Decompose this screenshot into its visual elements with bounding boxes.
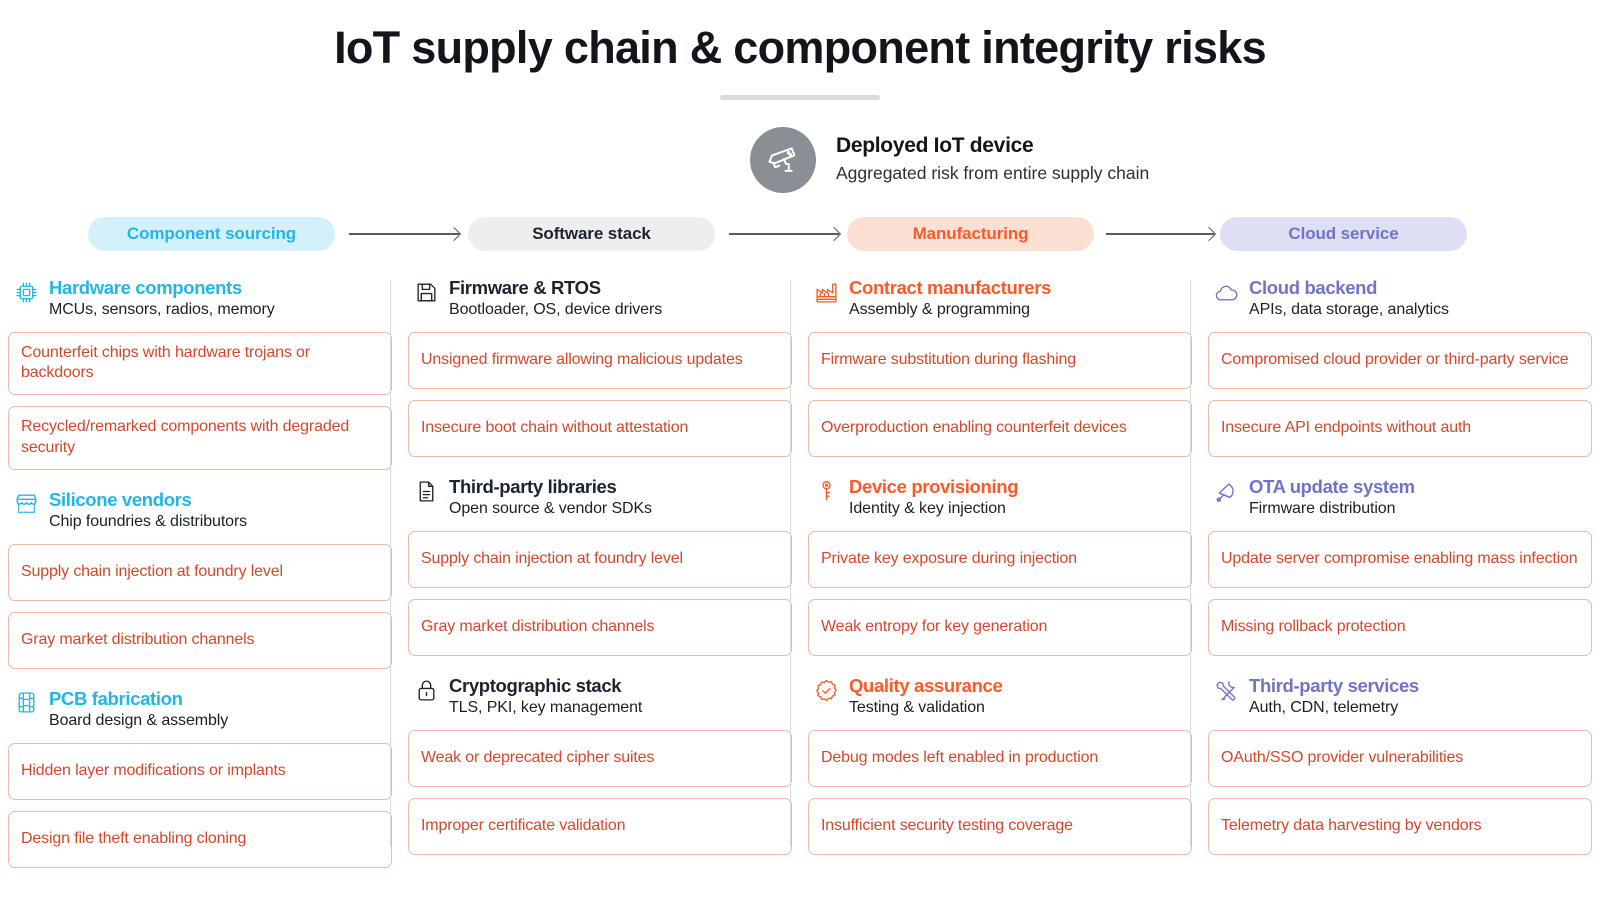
risk-group-title: Hardware components — [49, 277, 275, 298]
risk-item[interactable]: Insecure API endpoints without auth — [1208, 400, 1592, 457]
risk-item[interactable]: Supply chain injection at foundry level — [408, 531, 792, 588]
stage-pill-component-sourcing[interactable]: Component sourcing — [88, 217, 335, 251]
tools-icon — [1212, 675, 1240, 705]
risk-item[interactable]: Recycled/remarked components with degrad… — [8, 406, 392, 469]
risk-group-header: Firmware & RTOSBootloader, OS, device dr… — [408, 276, 792, 321]
risk-group-subtitle: APIs, data storage, analytics — [1249, 300, 1449, 321]
deployed-device-header: Deployed IoT device Aggregated risk from… — [750, 127, 1149, 193]
risk-group-header: Device provisioningIdentity & key inject… — [808, 475, 1192, 520]
risk-item[interactable]: Missing rollback protection — [1208, 599, 1592, 656]
lock-icon — [412, 675, 440, 705]
pcb-chip-icon — [12, 688, 40, 718]
risk-group-subtitle: Identity & key injection — [849, 499, 1018, 520]
risk-group-subtitle: Chip foundries & distributors — [49, 512, 247, 533]
security-camera-icon — [764, 141, 802, 179]
risk-group: Quality assuranceTesting & validationDeb… — [808, 674, 1192, 855]
risk-item[interactable]: Firmware substitution during flashing — [808, 332, 1192, 389]
device-badge — [750, 127, 816, 193]
floppy-disk-icon — [412, 277, 440, 307]
risk-group-title: Contract manufacturers — [849, 277, 1051, 298]
risk-group-title: Quality assurance — [849, 675, 1002, 696]
risk-group-header: Third-party librariesOpen source & vendo… — [408, 475, 792, 520]
risk-item[interactable]: OAuth/SSO provider vulnerabilities — [1208, 730, 1592, 787]
risk-group: Contract manufacturersAssembly & program… — [808, 276, 1192, 457]
column-cloud-service: Cloud backendAPIs, data storage, analyti… — [1200, 276, 1600, 856]
risk-group-header: Cryptographic stackTLS, PKI, key managem… — [408, 674, 792, 719]
risk-group-title: Third-party services — [1249, 675, 1419, 696]
stage-pill-cloud-service[interactable]: Cloud service — [1220, 217, 1467, 251]
risk-group-subtitle: Testing & validation — [849, 698, 1002, 719]
verified-badge-icon — [812, 675, 840, 705]
risk-group-header: Cloud backendAPIs, data storage, analyti… — [1208, 276, 1592, 321]
risk-group-title: Cryptographic stack — [449, 675, 642, 696]
flow-arrow-2 — [729, 233, 839, 235]
risk-group-title: PCB fabrication — [49, 688, 228, 709]
risk-item[interactable]: Insufficient security testing coverage — [808, 798, 1192, 855]
risk-item[interactable]: Weak entropy for key generation — [808, 599, 1192, 656]
risk-group-header: Third-party servicesAuth, CDN, telemetry — [1208, 674, 1592, 719]
document-icon — [412, 476, 440, 506]
risk-group: Cryptographic stackTLS, PKI, key managem… — [408, 674, 792, 855]
risk-group-header: Quality assuranceTesting & validation — [808, 674, 1192, 719]
risk-group-subtitle: Board design & assembly — [49, 711, 228, 732]
risk-item[interactable]: Supply chain injection at foundry level — [8, 544, 392, 601]
risk-group: Firmware & RTOSBootloader, OS, device dr… — [408, 276, 792, 457]
risk-group: Cloud backendAPIs, data storage, analyti… — [1208, 276, 1592, 457]
column-software-stack: Firmware & RTOSBootloader, OS, device dr… — [400, 276, 800, 856]
device-title: Deployed IoT device — [836, 133, 1149, 159]
risk-item[interactable]: Telemetry data harvesting by vendors — [1208, 798, 1592, 855]
risk-group: OTA update systemFirmware distributionUp… — [1208, 475, 1592, 656]
risk-group-subtitle: Bootloader, OS, device drivers — [449, 300, 662, 321]
risk-group-title: OTA update system — [1249, 476, 1415, 497]
risk-group: PCB fabricationBoard design & assemblyHi… — [8, 687, 392, 868]
key-icon — [812, 476, 840, 506]
risk-item[interactable]: Unsigned firmware allowing malicious upd… — [408, 332, 792, 389]
risk-item[interactable]: Gray market distribution channels — [8, 612, 392, 669]
risk-item[interactable]: Weak or deprecated cipher suites — [408, 730, 792, 787]
risk-columns: Hardware componentsMCUs, sensors, radios… — [0, 276, 1600, 856]
risk-group-title: Silicone vendors — [49, 489, 247, 510]
page-title: IoT supply chain & component integrity r… — [0, 0, 1600, 74]
risk-group-subtitle: MCUs, sensors, radios, memory — [49, 300, 275, 321]
risk-group-title: Device provisioning — [849, 476, 1018, 497]
chip-icon — [12, 277, 40, 307]
satellite-dish-icon — [1212, 476, 1240, 506]
storefront-icon — [12, 489, 40, 519]
risk-item[interactable]: Counterfeit chips with hardware trojans … — [8, 332, 392, 395]
risk-group-subtitle: Assembly & programming — [849, 300, 1051, 321]
column-manufacturing: Contract manufacturersAssembly & program… — [800, 276, 1200, 856]
risk-item[interactable]: Hidden layer modifications or implants — [8, 743, 392, 800]
title-divider — [720, 95, 880, 100]
risk-group: Third-party librariesOpen source & vendo… — [408, 475, 792, 656]
risk-item[interactable]: Design file theft enabling cloning — [8, 811, 392, 868]
risk-item[interactable]: Update server compromise enabling mass i… — [1208, 531, 1592, 588]
risk-group: Third-party servicesAuth, CDN, telemetry… — [1208, 674, 1592, 855]
flow-arrow-3 — [1106, 233, 1214, 235]
column-component-sourcing: Hardware componentsMCUs, sensors, radios… — [0, 276, 400, 856]
risk-group: Hardware componentsMCUs, sensors, radios… — [8, 276, 392, 470]
risk-item[interactable]: Gray market distribution channels — [408, 599, 792, 656]
risk-group-title: Third-party libraries — [449, 476, 652, 497]
flow-arrow-1 — [349, 233, 459, 235]
infographic-page: IoT supply chain & component integrity r… — [0, 0, 1600, 900]
risk-group-header: OTA update systemFirmware distribution — [1208, 475, 1592, 520]
risk-group-subtitle: Open source & vendor SDKs — [449, 499, 652, 520]
risk-group: Device provisioningIdentity & key inject… — [808, 475, 1192, 656]
risk-item[interactable]: Insecure boot chain without attestation — [408, 400, 792, 457]
cloud-icon — [1212, 277, 1240, 307]
risk-item[interactable]: Overproduction enabling counterfeit devi… — [808, 400, 1192, 457]
risk-group-header: PCB fabricationBoard design & assembly — [8, 687, 392, 732]
risk-item[interactable]: Compromised cloud provider or third-part… — [1208, 332, 1592, 389]
risk-group-subtitle: Auth, CDN, telemetry — [1249, 698, 1419, 719]
risk-group-header: Hardware componentsMCUs, sensors, radios… — [8, 276, 392, 321]
device-subtitle: Aggregated risk from entire supply chain — [836, 162, 1149, 185]
risk-item[interactable]: Debug modes left enabled in production — [808, 730, 1192, 787]
risk-item[interactable]: Improper certificate validation — [408, 798, 792, 855]
risk-item[interactable]: Private key exposure during injection — [808, 531, 1192, 588]
risk-group: Silicone vendorsChip foundries & distrib… — [8, 488, 392, 669]
risk-group-header: Contract manufacturersAssembly & program… — [808, 276, 1192, 321]
risk-group-subtitle: TLS, PKI, key management — [449, 698, 642, 719]
factory-icon — [812, 277, 840, 307]
stage-pill-software-stack[interactable]: Software stack — [468, 217, 715, 251]
risk-group-subtitle: Firmware distribution — [1249, 499, 1415, 520]
risk-group-title: Firmware & RTOS — [449, 277, 662, 298]
risk-group-title: Cloud backend — [1249, 277, 1449, 298]
stage-pill-manufacturing[interactable]: Manufacturing — [847, 217, 1094, 251]
risk-group-header: Silicone vendorsChip foundries & distrib… — [8, 488, 392, 533]
stage-flow: Component sourcingSoftware stackManufact… — [0, 217, 1600, 251]
